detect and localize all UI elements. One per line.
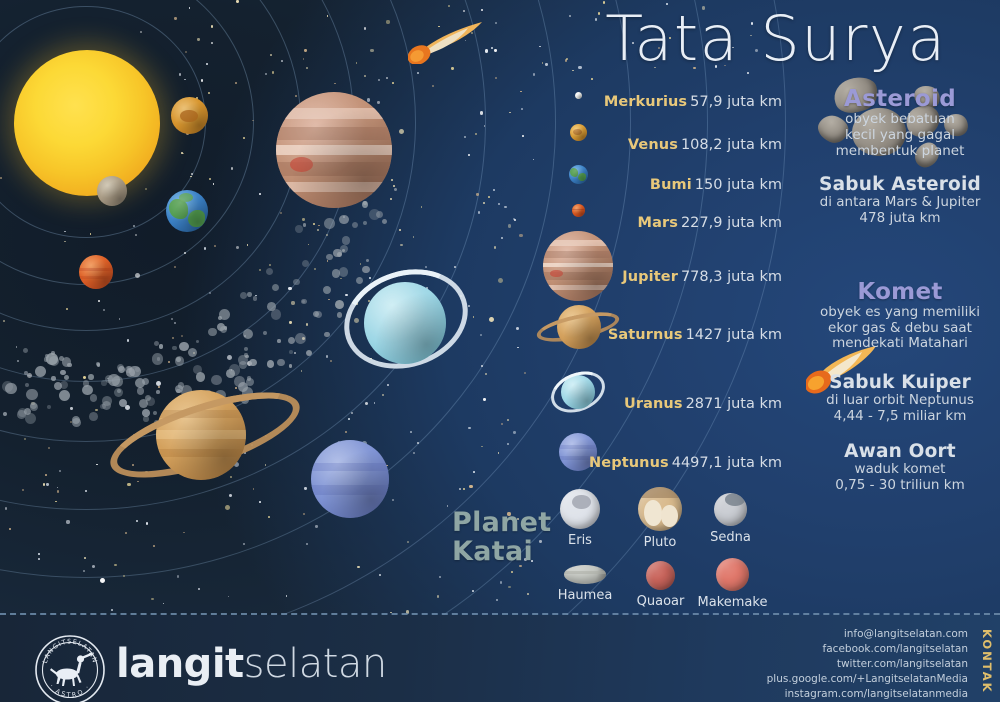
kontak-label: KONTAK	[980, 629, 994, 694]
dwarf-planet-body	[646, 561, 675, 590]
dwarf-planet-label: Quaoar	[625, 594, 697, 609]
dwarf-planet-grid: Eris PlutoSednaHaumeaQuaoarMakemake	[0, 0, 1000, 702]
brand-wordmark: langitselatan	[116, 644, 387, 684]
contact-link[interactable]: plus.google.com/+LangitselatanMedia	[767, 672, 968, 687]
logo-centaur-figure	[50, 653, 93, 687]
svg-text:· ASTRO ·: · ASTRO ·	[48, 682, 92, 699]
dwarf-planet-label: Pluto	[624, 535, 696, 550]
contact-link[interactable]: facebook.com/langitselatan	[767, 642, 968, 657]
dwarf-planet-makemake: Makemake	[697, 558, 769, 610]
dwarf-planet-label: Eris	[544, 533, 616, 548]
dwarf-planet-haumea: Haumea	[549, 565, 621, 603]
langitselatan-logo: LANGITSELATAN · ASTRO ·	[34, 634, 106, 702]
dwarf-planet-sedna: Sedna	[695, 493, 767, 545]
dwarf-planet-body	[638, 487, 682, 531]
brand-light: selatan	[244, 641, 387, 687]
logo-bottom-text: · ASTRO ·	[48, 682, 92, 699]
dwarf-planet-body	[564, 565, 606, 584]
dwarf-planet-body	[716, 558, 749, 591]
infographic-poster: Tata Surya Merkurius5	[0, 0, 1000, 702]
dwarf-planet-label: Makemake	[697, 595, 769, 610]
dwarf-planet-pluto: Pluto	[624, 487, 696, 550]
dwarf-planet-label: Sedna	[695, 530, 767, 545]
dwarf-planet-eris: Eris	[544, 489, 616, 548]
brand-bold: langit	[116, 641, 244, 687]
dwarf-planet-body	[714, 493, 747, 526]
contact-link[interactable]: twitter.com/langitselatan	[767, 657, 968, 672]
dwarf-planet-label: Haumea	[549, 588, 621, 603]
dwarf-planet-body	[560, 489, 600, 529]
svg-text:LANGITSELATAN: LANGITSELATAN	[41, 637, 99, 664]
contact-link[interactable]: instagram.com/langitselatanmedia	[767, 687, 968, 702]
dwarf-planet-quaoar: Quaoar	[625, 561, 697, 609]
footer-bar: LANGITSELATAN · ASTRO · langitselatan in…	[0, 615, 1000, 702]
contact-link[interactable]: info@langitselatan.com	[767, 627, 968, 642]
contact-links: info@langitselatan.comfacebook.com/langi…	[767, 627, 968, 702]
logo-top-text: LANGITSELATAN	[41, 637, 99, 664]
